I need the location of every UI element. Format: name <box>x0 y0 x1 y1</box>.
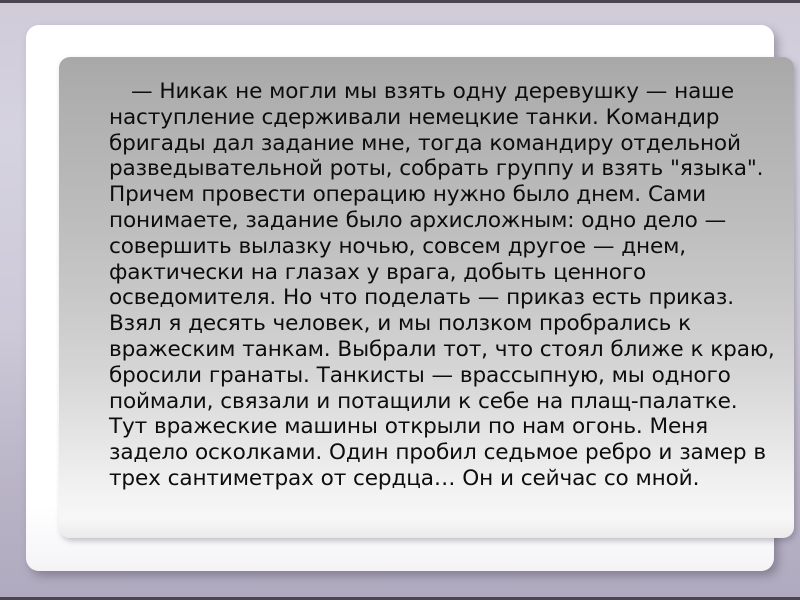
slide-top-rule <box>0 0 800 3</box>
slide-root: — Никак не могли мы взять одну деревушку… <box>0 0 800 600</box>
slide-body-paragraph: — Никак не могли мы взять одну деревушку… <box>59 57 794 492</box>
slide-content-card: — Никак не могли мы взять одну деревушку… <box>26 25 774 571</box>
text-content-panel[interactable]: — Никак не могли мы взять одну деревушку… <box>59 57 794 538</box>
